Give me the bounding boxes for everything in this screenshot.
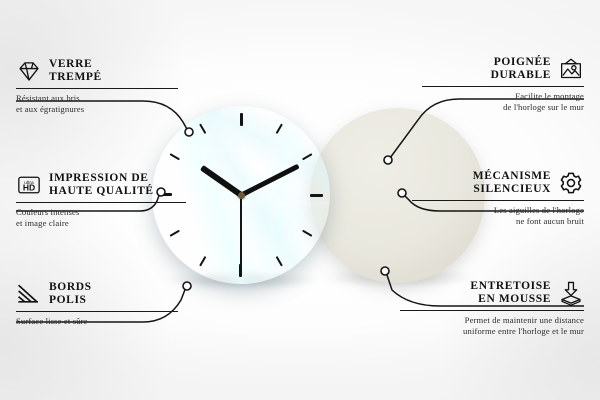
- infographic-canvas: VERRE TREMPÉ Résistant aux bris et aux é…: [0, 0, 600, 400]
- feature-title-line1: MÉCANISME: [473, 170, 551, 183]
- feature-subtitle: Permet de maintenir une distance uniform…: [400, 315, 584, 336]
- feature-subtitle: Facilite le montage de l'horloge sur le …: [422, 91, 584, 112]
- feature-title: IMPRESSION DE HAUTE QUALITÉ: [49, 172, 154, 198]
- feature-sub-line1: Couleurs intenses: [16, 207, 186, 218]
- feature-impression-haute-qualite: ultra HD IMPRESSION DE HAUTE QUALITÉ Cou…: [16, 172, 186, 229]
- feature-sub-line2: uniforme entre l'horloge et le mur: [400, 326, 584, 337]
- feature-title-line2: EN MOUSSE: [470, 293, 551, 306]
- feature-divider: [16, 202, 186, 203]
- feature-sub-line2: ne font aucun bruit: [412, 216, 584, 227]
- feature-sub-line1: Permet de maintenir une distance: [400, 315, 584, 326]
- feature-title-line1: IMPRESSION DE: [49, 172, 154, 185]
- feature-header: BORDS POLIS: [16, 281, 178, 307]
- foam-spacer-icon: [558, 280, 584, 306]
- feature-sub-line2: et image claire: [16, 218, 186, 229]
- feature-title-line1: POIGNÉE: [491, 56, 551, 69]
- feature-divider: [400, 310, 584, 311]
- picture-hanger-icon: [558, 56, 584, 82]
- feature-title-line2: SILENCIEUX: [473, 183, 551, 196]
- diamond-icon: [16, 58, 42, 84]
- feature-subtitle: Surface lisse et sûre: [16, 316, 178, 327]
- feature-mecanisme-silencieux: MÉCANISME SILENCIEUX Les aiguilles de l'…: [412, 170, 584, 227]
- feature-sub-line2: et aux égratignures: [16, 104, 178, 115]
- ultra-hd-icon-bottom-text: HD: [23, 183, 35, 193]
- feature-title: ENTRETOISE EN MOUSSE: [470, 280, 551, 306]
- feature-header: MÉCANISME SILENCIEUX: [412, 170, 584, 196]
- feature-sub-line1: Les aiguilles de l'horloge: [412, 205, 584, 216]
- feature-subtitle: Les aiguilles de l'horloge ne font aucun…: [412, 205, 584, 226]
- feature-sub-line1: Facilite le montage: [422, 91, 584, 102]
- feature-subtitle: Résistant aux bris et aux égratignures: [16, 93, 178, 114]
- polished-edges-icon: [16, 281, 42, 307]
- feature-title-line2: DURABLE: [491, 69, 551, 82]
- gear-icon: [558, 170, 584, 196]
- feature-title-line2: POLIS: [49, 294, 92, 307]
- feature-divider: [422, 86, 584, 87]
- feature-title: VERRE TREMPÉ: [49, 58, 102, 84]
- feature-bords-polis: BORDS POLIS Surface lisse et sûre: [16, 281, 178, 327]
- feature-title-line1: BORDS: [49, 281, 92, 294]
- feature-subtitle: Couleurs intenses et image claire: [16, 207, 186, 228]
- feature-header: ENTRETOISE EN MOUSSE: [400, 280, 584, 306]
- feature-sub-line1: Surface lisse et sûre: [16, 316, 178, 327]
- feature-entretoise-en-mousse: ENTRETOISE EN MOUSSE Permet de maintenir…: [400, 280, 584, 337]
- feature-title-line2: TREMPÉ: [49, 71, 102, 84]
- feature-title-line1: VERRE: [49, 58, 102, 71]
- feature-verre-trempe: VERRE TREMPÉ Résistant aux bris et aux é…: [16, 58, 178, 115]
- feature-title-line2: HAUTE QUALITÉ: [49, 185, 154, 198]
- feature-divider: [412, 200, 584, 201]
- feature-sub-line1: Résistant aux bris: [16, 93, 178, 104]
- feature-header: ultra HD IMPRESSION DE HAUTE QUALITÉ: [16, 172, 186, 198]
- feature-sub-line2: de l'horloge sur le mur: [422, 102, 584, 113]
- feature-divider: [16, 311, 178, 312]
- feature-divider: [16, 88, 178, 89]
- feature-title: BORDS POLIS: [49, 281, 92, 307]
- feature-header: VERRE TREMPÉ: [16, 58, 178, 84]
- feature-header: POIGNÉE DURABLE: [422, 56, 584, 82]
- feature-title: MÉCANISME SILENCIEUX: [473, 170, 551, 196]
- feature-title-line1: ENTRETOISE: [470, 280, 551, 293]
- feature-title: POIGNÉE DURABLE: [491, 56, 551, 82]
- hands-center-cap: [238, 192, 245, 199]
- second-hand: [240, 195, 242, 269]
- ultra-hd-icon: ultra HD: [16, 172, 42, 198]
- feature-poignee-durable: POIGNÉE DURABLE Facilite le montage de l…: [422, 56, 584, 113]
